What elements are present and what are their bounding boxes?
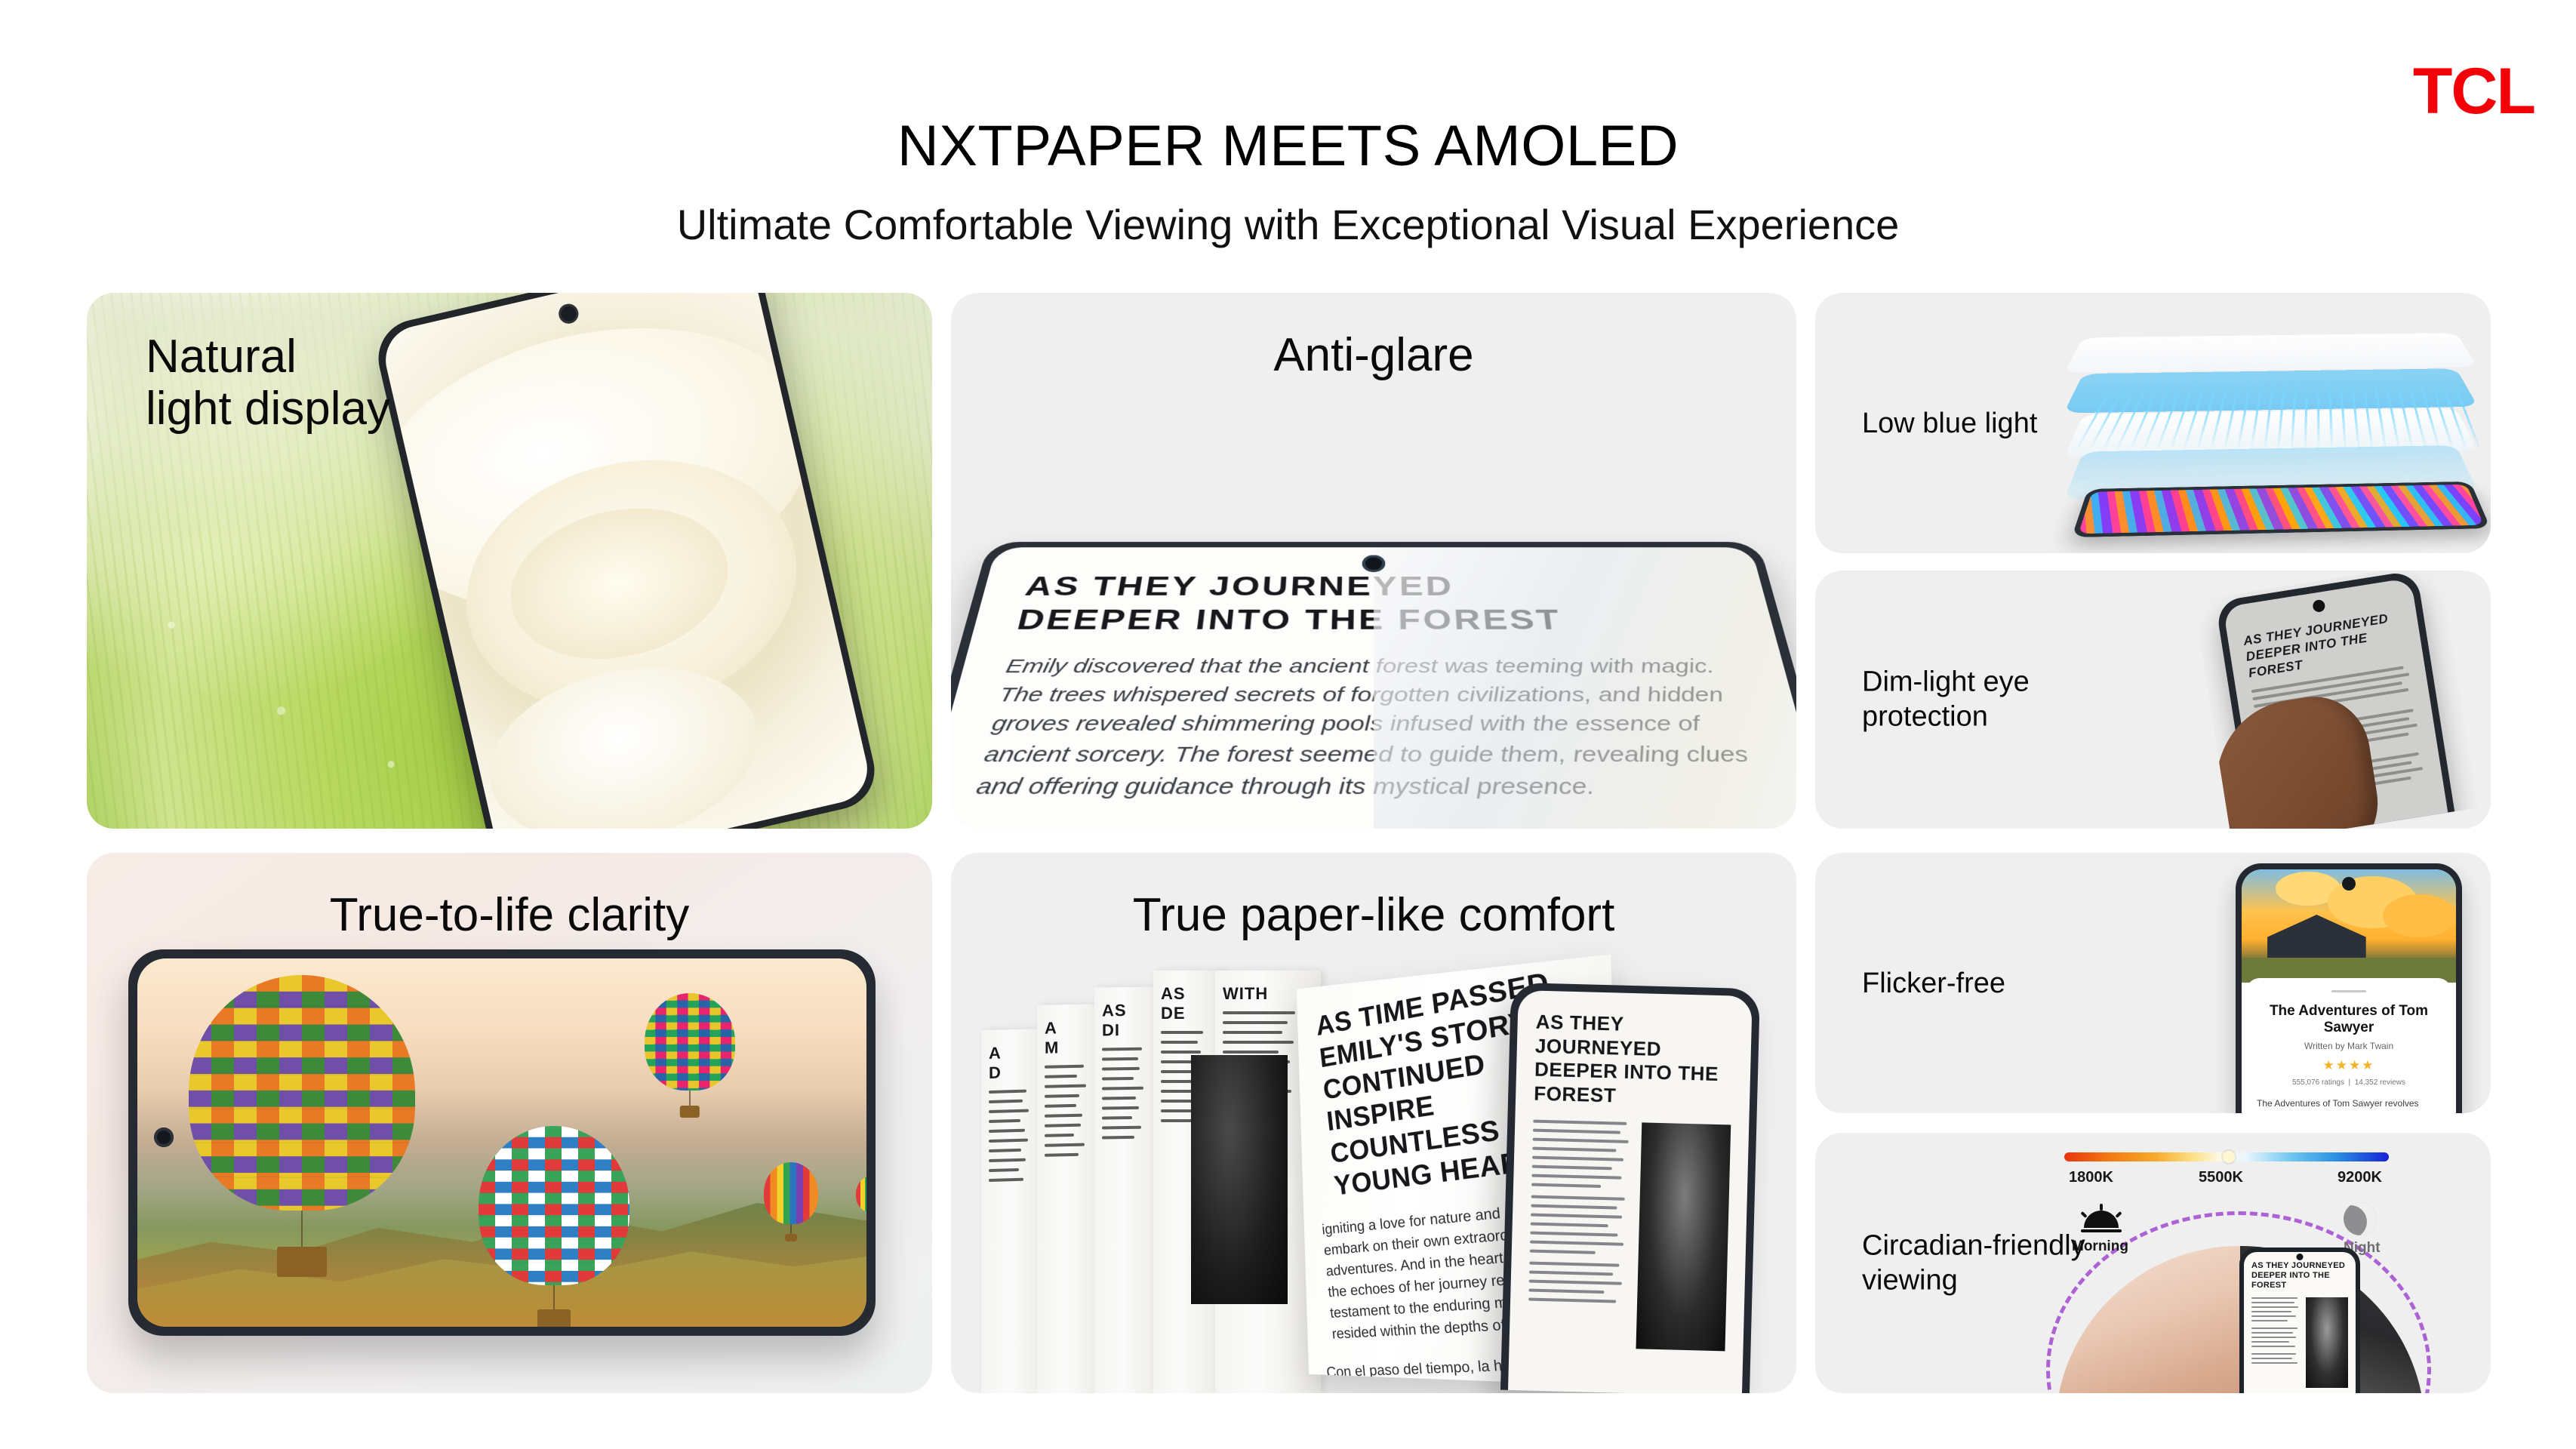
card-true-paper-like-comfort[interactable]: True paper-like comfort AD AM ASDI ASDE … [951,853,1796,1393]
color-temperature-marker [2223,1151,2235,1163]
front-camera-icon [154,1128,174,1147]
hot-air-balloon-icon [189,975,415,1277]
card-title-anti-glare: Anti-glare [951,329,1796,381]
circadian-phone-photo [2306,1297,2348,1388]
book-photo-dark [1191,1055,1288,1304]
card-flicker-free[interactable]: Flicker-free The Adventures of Tom Sawye… [1815,853,2491,1113]
card-label-flicker-free: Flicker-free [1862,965,2005,1000]
temp-label-mid: 5500K [2199,1169,2243,1186]
temp-label-low: 1800K [2069,1169,2113,1186]
phone-mockup-ebook: The Adventures of Tom Sawyer Written by … [2236,863,2462,1113]
ebook-rating-meta: 555,076 ratings | 14,352 reviews [2257,1078,2441,1087]
phone-mockup-colorful [2072,481,2491,537]
hot-air-balloon-icon [856,1176,866,1223]
comfort-phone-photo [1636,1122,1731,1351]
phone-mockup-anti-glare: AS THEY JOURNEYED DEEPER INTO THE FOREST… [989,542,1759,829]
ebook-title: The Adventures of Tom Sawyer [2257,1003,2441,1036]
card-label-circadian: Circadian-friendly viewing [1862,1228,2085,1298]
ebook-author: Written by Mark Twain [2257,1041,2441,1051]
comfort-phone-heading: AS THEY JOURNEYED DEEPER INTO THE FOREST [1534,1011,1734,1112]
card-low-blue-light[interactable]: Low blue light [1815,293,2491,553]
page-title: NXTPAPER MEETS AMOLED [0,113,2576,179]
phone-mockup-paper-comfort: AS THEY JOURNEYED DEEPER INTO THE FOREST [1500,983,1760,1393]
card-title-natural-light: Natural light display [146,331,390,435]
hot-air-balloon-icon [645,993,735,1118]
phone-mockup-balloons [128,949,876,1336]
drag-handle[interactable] [2331,990,2366,992]
star-rating-icon: ★★★★ [2257,1058,2441,1073]
anti-glare-phone-heading: AS THEY JOURNEYED DEEPER INTO THE FOREST [1014,570,1734,637]
card-label-low-blue-light: Low blue light [1862,405,2037,440]
card-true-to-life-clarity[interactable]: True-to-life clarity [87,853,932,1393]
front-camera-icon [2342,877,2356,891]
moon-icon [2344,1202,2377,1235]
card-dim-light-eye-protection[interactable]: Dim-light eye protection AS THEY JOURNEY… [1815,571,2491,829]
page-subtitle: Ultimate Comfortable Viewing with Except… [0,200,2576,249]
circadian-phone-heading: AS THEY JOURNEYED DEEPER INTO THE FOREST [2251,1261,2348,1291]
card-label-dim-light: Dim-light eye protection [1862,665,2030,735]
card-circadian-friendly-viewing[interactable]: Circadian-friendly viewing 1800K 5500K 9… [1815,1133,2491,1393]
card-title-paper-comfort: True paper-like comfort [951,889,1796,941]
temp-label-high: 9200K [2337,1169,2382,1186]
front-camera-icon [2312,599,2325,613]
blue-light-layers-illustration [2076,305,2491,546]
phone-in-hand-illustration: AS THEY JOURNEYED DEEPER INTO THE FOREST… [2193,571,2479,829]
blue-light-rays-icon [2069,371,2489,450]
card-title-clarity: True-to-life clarity [87,889,932,941]
phone-mockup-circadian: AS THEY JOURNEYED DEEPER INTO THE FOREST [2239,1247,2360,1393]
front-camera-icon [2297,1254,2304,1260]
anti-glare-phone-paragraph: Emily discovered that the ancient forest… [973,654,1774,804]
circadian-phone-text [2251,1297,2301,1388]
comfort-phone-text-column [1528,1119,1633,1348]
hot-air-balloon-icon [764,1162,818,1241]
front-camera-icon [1362,555,1386,572]
ebook-excerpt: The Adventures of Tom Sawyer revolves [2257,1097,2441,1110]
hot-air-balloon-icon [479,1126,629,1327]
card-natural-light-display[interactable]: Natural light display [87,293,932,829]
feature-grid: Natural light display Anti-glare AS THEY… [87,293,2491,1395]
card-anti-glare[interactable]: Anti-glare AS THEY JOURNEYED DEEPER INTO… [951,293,1796,829]
